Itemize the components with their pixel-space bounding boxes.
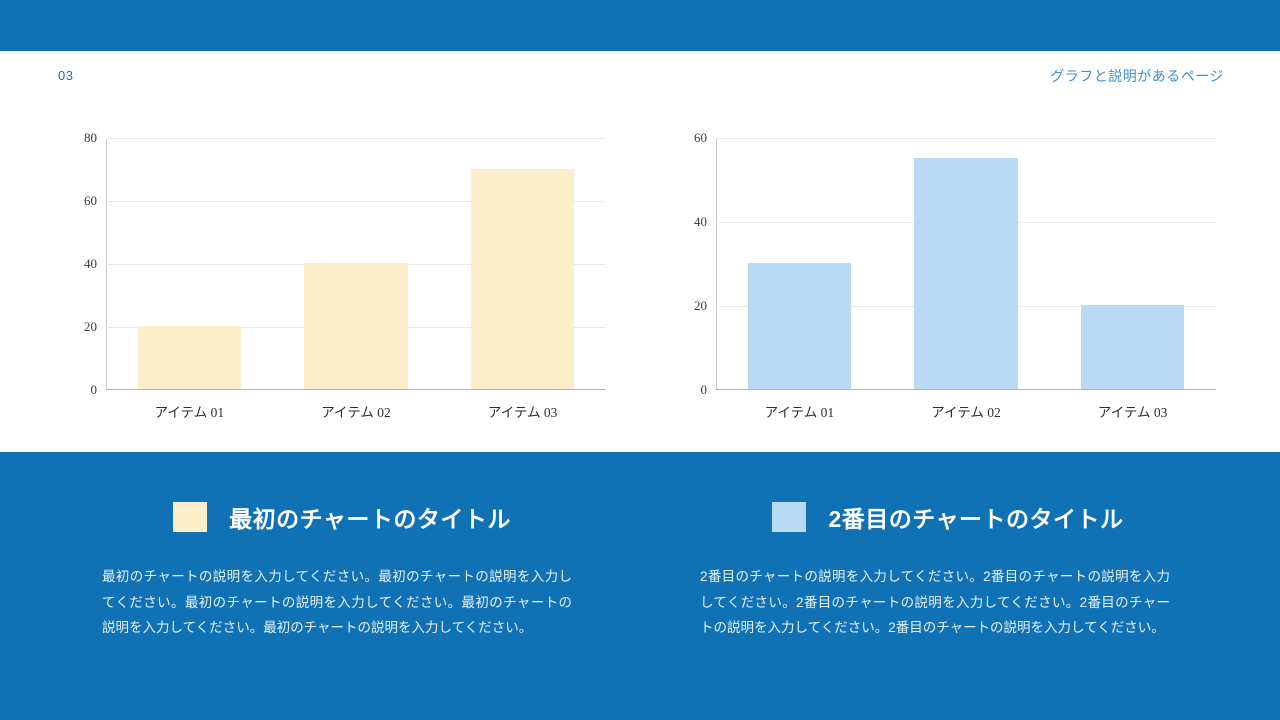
chart-block-second: 0204060アイテム 01アイテム 02アイテム 03 [668, 110, 1228, 420]
gridline [106, 138, 606, 139]
y-axis-tick-label: 20 [694, 298, 707, 314]
page-number: 03 [58, 68, 73, 83]
y-axis-tick-label: 0 [701, 382, 708, 398]
y-axis-tick-label: 20 [84, 319, 97, 335]
legend-second: 2番目のチャートのタイトル [648, 500, 1248, 534]
slide: 03 グラフと説明があるページ 020406080アイテム 01アイテム 02ア… [0, 0, 1280, 720]
charts-area: 020406080アイテム 01アイテム 02アイテム 03 0204060アイ… [0, 110, 1280, 450]
gridline [716, 138, 1216, 139]
bar [471, 169, 574, 390]
y-axis-tick-label: 60 [694, 130, 707, 146]
description-text: 最初のチャートの説明を入力してください。最初のチャートの説明を入力してください。… [102, 564, 572, 641]
description-text: 2番目のチャートの説明を入力してください。2番目のチャートの説明を入力してくださ… [700, 564, 1170, 641]
legend-title: 最初のチャートのタイトル [229, 500, 511, 534]
x-axis-line [716, 389, 1216, 390]
bar [1081, 305, 1184, 389]
description-panel: 最初のチャートのタイトル 最初のチャートの説明を入力してください。最初のチャート… [0, 452, 1280, 720]
top-brand-bar [0, 0, 1280, 51]
y-axis-tick-label: 80 [84, 130, 97, 146]
chart-block-first: 020406080アイテム 01アイテム 02アイテム 03 [58, 110, 618, 420]
legend-title: 2番目のチャートのタイトル [828, 500, 1123, 534]
panel-column-first: 最初のチャートのタイトル 最初のチャートの説明を入力してください。最初のチャート… [42, 452, 642, 720]
x-axis-tick-label: アイテム 03 [488, 401, 558, 421]
bar [304, 263, 407, 389]
x-axis-tick-label: アイテム 03 [1098, 401, 1168, 421]
chart-plot-first: 020406080アイテム 01アイテム 02アイテム 03 [106, 138, 606, 390]
bar [138, 326, 241, 389]
panel-column-second: 2番目のチャートのタイトル 2番目のチャートの説明を入力してください。2番目のチ… [648, 452, 1248, 720]
slide-header: 03 グラフと説明があるページ [0, 51, 1280, 101]
legend-first: 最初のチャートのタイトル [42, 500, 642, 534]
chart-plot-second: 0204060アイテム 01アイテム 02アイテム 03 [716, 138, 1216, 390]
y-axis-line [716, 138, 717, 390]
x-axis-line [106, 389, 606, 390]
x-axis-tick-label: アイテム 02 [321, 401, 391, 421]
y-axis-tick-label: 40 [84, 256, 97, 272]
bar [914, 158, 1017, 389]
legend-swatch-icon [173, 502, 207, 532]
y-axis-tick-label: 0 [91, 382, 98, 398]
y-axis-tick-label: 40 [694, 214, 707, 230]
bar [748, 263, 851, 389]
x-axis-tick-label: アイテム 02 [931, 401, 1001, 421]
x-axis-tick-label: アイテム 01 [155, 401, 225, 421]
y-axis-tick-label: 60 [84, 193, 97, 209]
x-axis-tick-label: アイテム 01 [765, 401, 835, 421]
legend-swatch-icon [772, 502, 806, 532]
page-title: グラフと説明があるページ [1050, 66, 1224, 86]
